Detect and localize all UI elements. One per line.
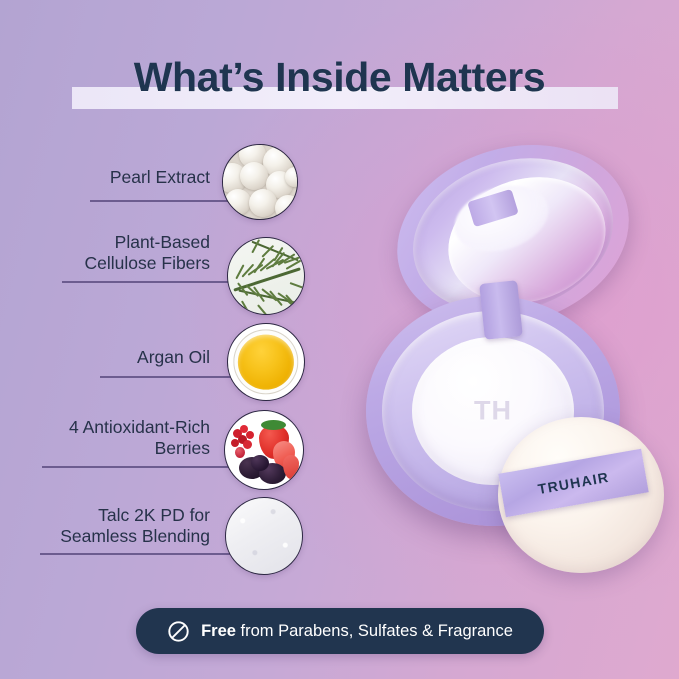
puff-brand-label: TRUHAIR (537, 469, 611, 497)
cushion-emboss-logo: TH (474, 396, 512, 427)
banner-rest-text: from Parabens, Sulfates & Fragrance (236, 622, 513, 640)
compact-hinge (479, 280, 523, 340)
ingredient-connector-line (42, 466, 254, 468)
pearls-swatch (222, 144, 298, 220)
pine-needles-swatch (227, 237, 305, 315)
free-from-banner-text: Free from Parabens, Sulfates & Fragrance (201, 622, 513, 641)
infographic-canvas: TH TRUHAIR What’s Inside Matters Pearl E… (0, 0, 679, 679)
ingredient-label: Argan Oil (60, 347, 210, 368)
ingredient-label: Pearl Extract (60, 167, 210, 188)
ingredient-connector-line (40, 553, 252, 555)
argan-oil-swatch (227, 323, 305, 401)
oil-liquid (238, 335, 294, 390)
banner-bold-word: Free (201, 622, 236, 640)
ingredient-label: Plant-Based Cellulose Fibers (40, 232, 210, 275)
talc-powder-swatch (225, 497, 303, 575)
page-title-text: What’s Inside Matters (0, 55, 679, 101)
ingredient-connector-line (62, 281, 254, 283)
page-title: What’s Inside Matters (0, 55, 679, 101)
ingredient-label: 4 Antioxidant-Rich Berries (32, 417, 210, 460)
no-entry-icon (167, 620, 190, 643)
free-from-banner: Free from Parabens, Sulfates & Fragrance (136, 608, 544, 654)
berries-swatch (224, 410, 304, 490)
ingredient-label: Talc 2K PD for Seamless Blending (30, 505, 210, 548)
